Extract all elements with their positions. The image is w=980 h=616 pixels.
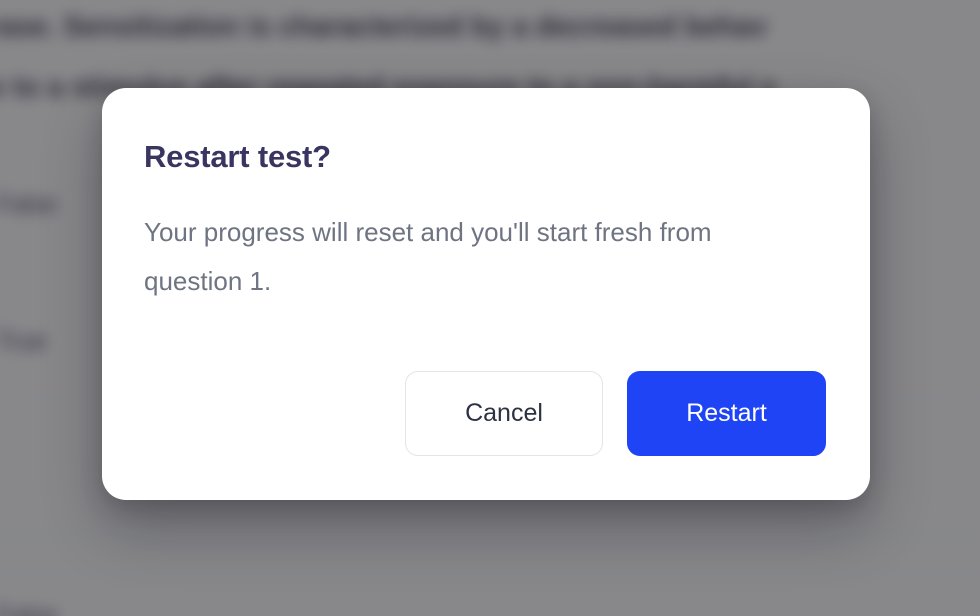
screen: rase. Sensitization is characterized by … — [0, 0, 980, 616]
dialog-title: Restart test? — [144, 140, 826, 174]
restart-button[interactable]: Restart — [627, 371, 826, 456]
dialog-actions: Cancel Restart — [144, 371, 826, 456]
dialog-description: Your progress will reset and you'll star… — [144, 174, 789, 306]
restart-test-dialog: Restart test? Your progress will reset a… — [102, 88, 870, 500]
cancel-button[interactable]: Cancel — [405, 371, 603, 456]
